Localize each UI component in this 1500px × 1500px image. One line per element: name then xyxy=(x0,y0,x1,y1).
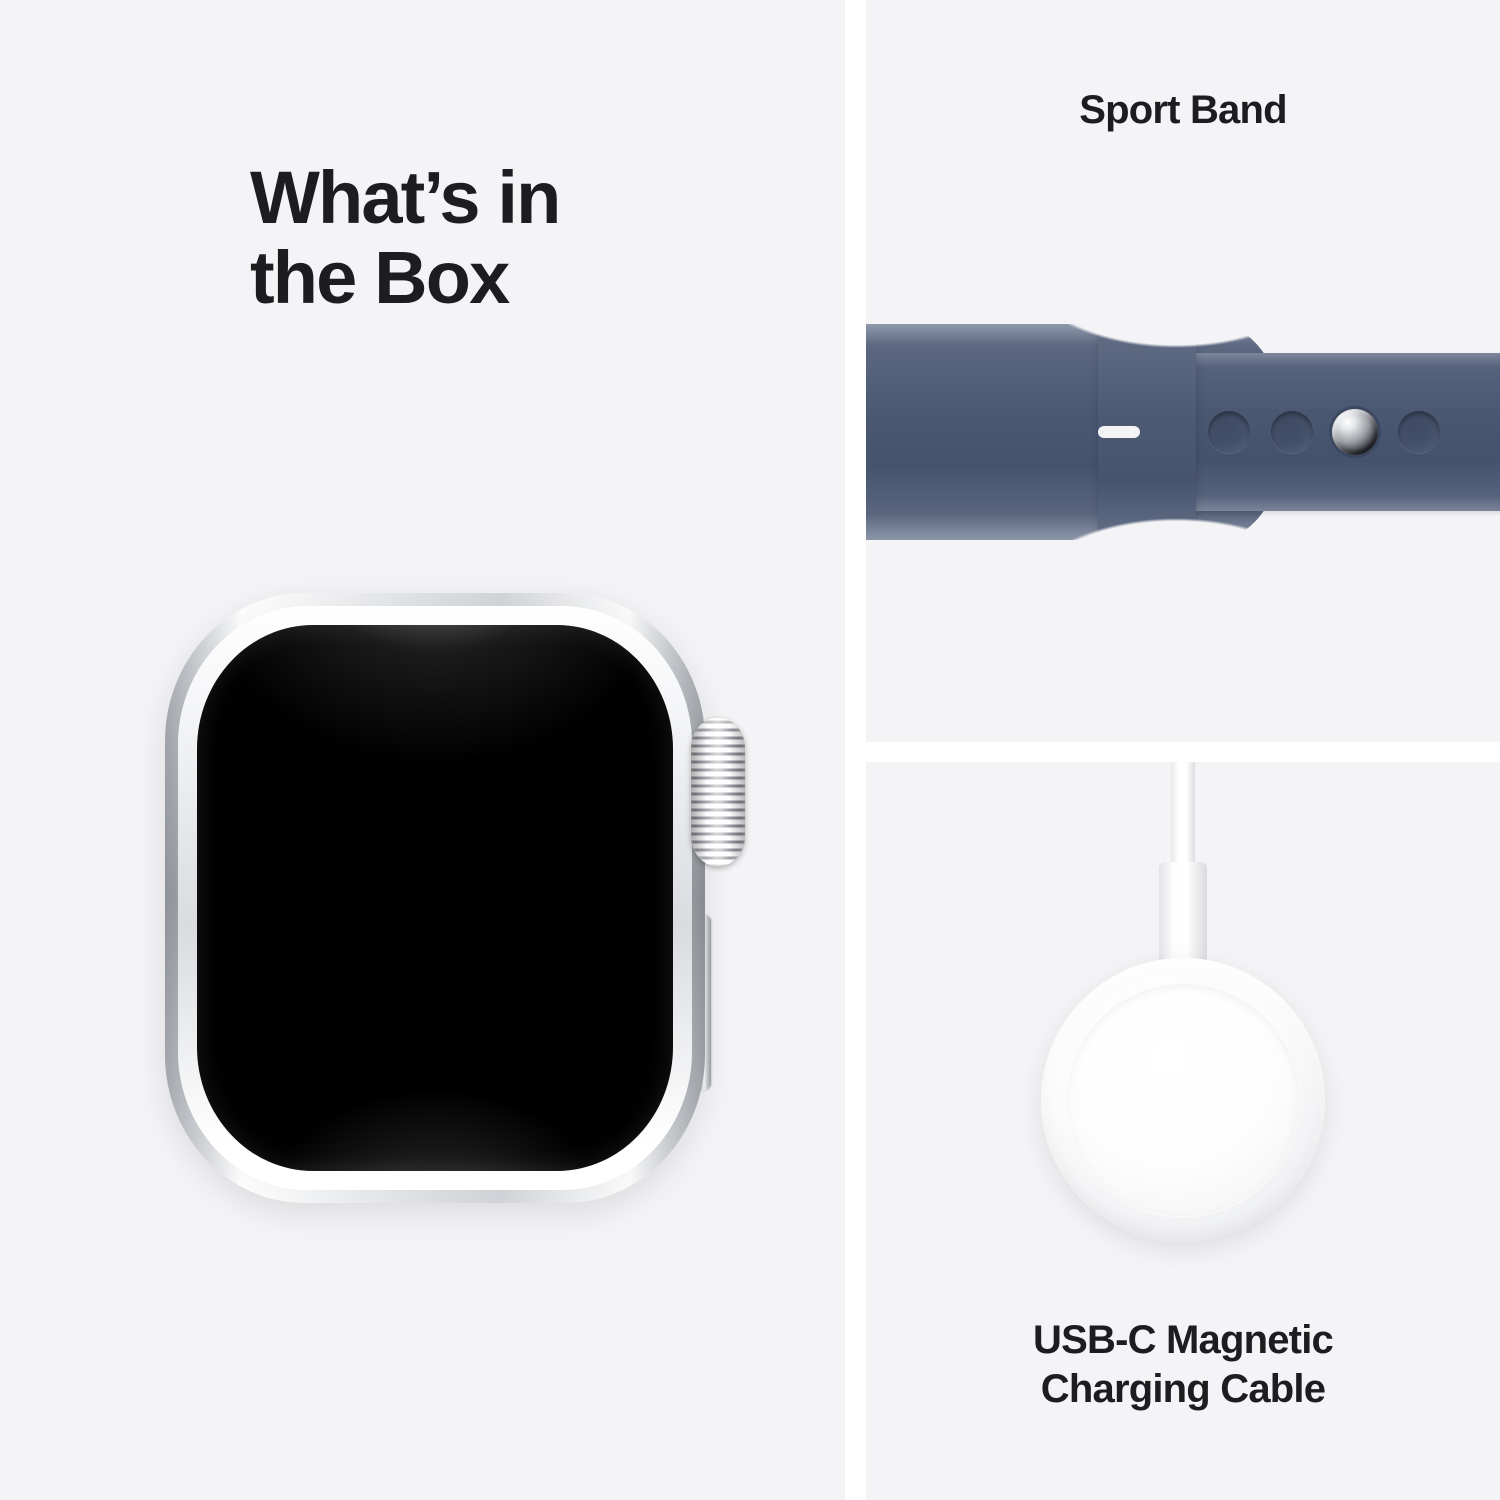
band-taper-shading xyxy=(1046,298,1306,568)
band-hole xyxy=(1398,411,1440,453)
panel-whats-in-the-box: What’s in the Box xyxy=(0,0,845,1500)
charging-cable-label: USB-C Magnetic Charging Cable xyxy=(866,1316,1500,1414)
charger-puck-inner-ring xyxy=(1067,984,1299,1216)
panel-charging-cable: USB-C Magnetic Charging Cable xyxy=(866,762,1500,1500)
product-image-sheet: What’s in the Box Sport Band xyxy=(0,0,1500,1500)
digital-crown-icon xyxy=(691,718,745,866)
apple-watch-illustration xyxy=(165,593,705,1203)
band-pin-stud xyxy=(1332,409,1378,455)
sport-band-illustration xyxy=(866,298,1500,568)
sport-band-label: Sport Band xyxy=(866,88,1500,133)
cable-cord xyxy=(1171,762,1195,870)
panel-sport-band: Sport Band xyxy=(866,0,1500,742)
watch-case xyxy=(165,593,705,1203)
watch-display xyxy=(197,625,673,1171)
page-title: What’s in the Box xyxy=(250,158,770,318)
